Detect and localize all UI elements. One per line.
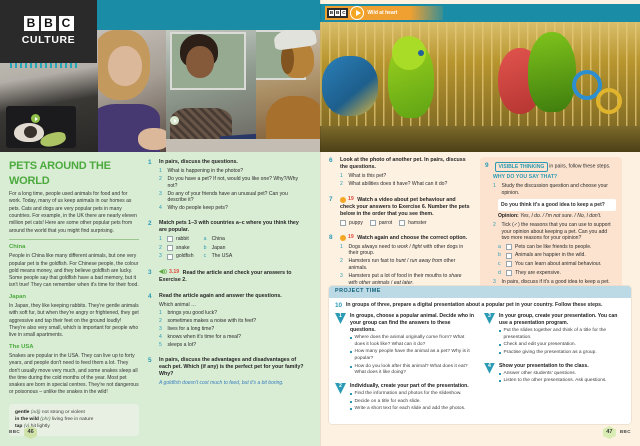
exercise-4-item-3: lives for a long time? [168, 326, 215, 333]
list-item: 2sometimes makes a noise with its feet? [159, 318, 308, 325]
option-checkbox-puppy[interactable] [340, 220, 346, 226]
match-row: 2snake [159, 245, 194, 252]
video-number-8: 19 [348, 234, 354, 241]
step-badge-2: 2 [335, 383, 346, 394]
exercise-6-items: 1What is this pet? 2What abilities does … [340, 173, 471, 188]
audio-play-icon-2[interactable] [170, 116, 179, 125]
exercise-10-number: 10 [335, 302, 342, 310]
list-item: 3Do any of your friends have an unusual … [159, 191, 308, 204]
list-item: 4Why do people keep pets? [159, 205, 308, 212]
match-countries: aChina bJapan cThe USA [204, 236, 233, 262]
step-title-2: Individually, create your part of the pr… [350, 383, 469, 390]
project-column-1: 1 In groups, choose a popular animal. De… [335, 313, 476, 419]
list-item: Decide on a title for each slide. [350, 399, 469, 406]
exercise-4-items: 1brings you good luck? 2sometimes makes … [159, 310, 308, 348]
bbc-letter-b1: B [24, 16, 39, 31]
match-pet-2: snake [176, 245, 190, 252]
option-label-puppy: puppy [349, 220, 363, 227]
exercise-9-number: 9 [485, 162, 492, 170]
match-row: 3goldfish [159, 253, 194, 260]
left-page: Perfect pets B B C CULTURE [0, 0, 320, 446]
reason-label-d: They are expensive. [515, 270, 561, 277]
list-item: 2 Hamsters run fast to hunt / run away f… [340, 258, 471, 271]
project-step-3: 3 In your group, create your presentatio… [484, 313, 625, 358]
photo-girl-feeding [98, 30, 166, 152]
step-bullets-1: Where does the animal originally come fr… [350, 335, 476, 377]
bbc-logo-icon-small: B B C [327, 8, 348, 18]
reason-label-a: Pets can be like friends to people. [515, 244, 591, 251]
list-item: Where does the animal originally come fr… [350, 335, 476, 349]
match-checkbox-2[interactable] [167, 245, 173, 251]
glossary-word-1: gentle [15, 410, 29, 415]
exercise-8-lead: Watch again and choose the correct optio… [357, 235, 467, 241]
left-footer: BBC 46 [9, 426, 37, 439]
exercise-1-item-1: What is happening in the photos? [168, 168, 244, 175]
exercise-7-number: 7 [329, 196, 336, 227]
list-item: 1What is this pet? [340, 173, 471, 180]
right-page: B B C Wild at heart 6 Look at the photo … [320, 0, 640, 446]
project-lead-row: 10 In groups of three, prepare a digital… [329, 298, 631, 313]
glossary-def-1: not strong or violent [42, 410, 85, 415]
exercise-4-item-1: brings you good luck? [168, 310, 218, 317]
vt-reason-row: aPets can be like friends to people. [498, 244, 616, 251]
audio-track-number: 3.19 [169, 269, 179, 276]
visible-thinking-subtitle: WHY DO YOU SAY THAT? [493, 174, 616, 181]
video-play-button-7[interactable]: 19 [340, 196, 354, 203]
bbc-logo-icon: B B C [24, 16, 74, 31]
match-pet-1: rabbit [176, 236, 189, 243]
exercise-6-item-2: What abilities does it have? What can it… [349, 181, 448, 188]
list-item: 3 Hamsters put a lot of food in their mo… [340, 273, 471, 286]
left-columns: PETS AROUND THE WORLD For a long time, p… [0, 152, 320, 436]
option-checkbox-hamster[interactable] [399, 220, 405, 226]
vt-reasons: aPets can be like friends to people. bAn… [498, 244, 616, 277]
vt-reason-row: bAnimals are happier in the wild. [498, 252, 616, 259]
visible-thinking-steps: 1Study the discussion question and choos… [493, 183, 616, 196]
exercise-5-lead: In pairs, discuss the advantages and dis… [159, 357, 308, 378]
glossary-entry-1: gentle (adj) not strong or violent [15, 409, 133, 416]
list-item: 2Do you have a pet? If not, would you li… [159, 176, 308, 189]
list-item: How do you look after this animal? What … [350, 364, 476, 378]
reason-checkbox-a[interactable] [506, 244, 512, 250]
page-number-left: 46 [24, 426, 37, 439]
vt-step-1: Study the discussion question and choose… [502, 183, 617, 196]
match-pets: 1rabbit 2snake 3goldfish [159, 236, 194, 262]
list-item: Listen to the other presentations. Ask q… [499, 378, 607, 385]
exercise-1-number: 1 [148, 159, 155, 213]
glossary-pos-1: (adj) [31, 410, 41, 415]
photo-boy-at-table [166, 30, 256, 152]
match-country-3: The USA [212, 253, 233, 260]
list-item: 1What is happening in the photos? [159, 168, 308, 175]
list-item: How many people have the animal as a pet… [350, 349, 476, 363]
match-row: 1rabbit [159, 236, 194, 243]
vt-step-2: Tick (✓) the reasons that you can use to… [502, 222, 617, 242]
exercise-7: 7 19 Watch a video about pet behaviour a… [329, 196, 471, 227]
exercise-6: 6 Look at the photo of another pet. In p… [329, 157, 471, 189]
vt-opinion-values: Yes, I do. / I'm not sure. / No, I don't… [520, 213, 601, 219]
step-bullets-4: Answer other students' questions. Listen… [499, 371, 607, 385]
exercise-6-number: 6 [329, 157, 336, 189]
reason-label-c: You can learn about animal behaviour. [515, 261, 601, 268]
footer-bbc-right: BBC [620, 429, 631, 435]
play-icon-small [340, 235, 346, 241]
article-intro: For a long time, people used animals for… [9, 191, 139, 235]
left-hero: Perfect pets B B C CULTURE [0, 0, 320, 152]
section-text-japan: In Japan, they like keeping rabbits. The… [9, 303, 139, 340]
project-column-2: 3 In your group, create your presentatio… [484, 313, 625, 419]
list-item: Check and edit your presentation. [499, 342, 625, 349]
article-title: PETS AROUND THE WORLD [9, 159, 139, 188]
match-country-2: Japan [212, 245, 226, 252]
reason-checkbox-b[interactable] [506, 253, 512, 259]
hero-title-bar [97, 0, 320, 30]
list-item: Put the slides together and think of a t… [499, 328, 625, 342]
match-country-1: China [212, 236, 225, 243]
vt-discussion-question: Do you think it's a good idea to keep a … [498, 199, 616, 211]
visible-thinking-step2: 2Tick (✓) the reasons that you can use t… [493, 222, 616, 242]
exercise-9-lead: in pairs, follow these steps. [549, 164, 610, 170]
speaker-icon: ◀)) [159, 269, 167, 276]
section-heading-usa: The USA [9, 344, 139, 352]
exercise-4-item-5: sleeps a lot? [168, 342, 197, 349]
step-badge-1: 1 [335, 313, 346, 324]
exercise-6-item-1: What is this pet? [349, 173, 387, 180]
right-hero: B B C Wild at heart [320, 0, 640, 152]
video-title: Wild at heart [367, 10, 397, 17]
audio-track-button[interactable]: ◀)) 3.19 [159, 269, 179, 276]
play-icon-small [340, 197, 346, 203]
section-text-usa: Snakes are popular in the USA. They can … [9, 353, 139, 397]
bbc-letter-b2: B [41, 16, 56, 31]
exercise-7-lead: Watch a video about pet behaviour and ch… [340, 197, 470, 217]
list-item: 1brings you good luck? [159, 310, 308, 317]
reason-label-b: Animals are happier in the wild. [515, 252, 586, 259]
vt-opinion-row: Opinion: Yes, I do. / I'm not sure. / No… [498, 213, 616, 220]
exercise-3-number: 3 [148, 269, 155, 286]
option-label-hamster: hamster [408, 220, 426, 227]
reason-checkbox-c[interactable] [506, 261, 512, 267]
exercise-2-number: 2 [148, 220, 155, 262]
list-item: 4knows when it's time for a meal? [159, 334, 308, 341]
page-number-right: 47 [603, 426, 616, 439]
project-time-panel: PROJECT TIME 10 In groups of three, prep… [329, 286, 631, 424]
step-title-4: Show your presentation to the class. [499, 363, 607, 370]
exercise-4-lead: Read the article again and answer the qu… [159, 293, 308, 300]
project-step-2: 2 Individually, create your part of the … [335, 383, 476, 414]
exercise-1-items: 1What is happening in the photos? 2Do yo… [159, 168, 308, 212]
match-row: bJapan [204, 245, 233, 252]
list-item: Answer other students' questions. [499, 371, 607, 378]
step-bullets-3: Put the slides together and think of a t… [499, 328, 625, 357]
list-item: 2Tick (✓) the reasons that you can use t… [493, 222, 616, 242]
exercise-1-lead: In pairs, discuss the questions. [159, 159, 308, 166]
video-number-7: 19 [348, 196, 354, 203]
section-heading-china: China [9, 244, 139, 252]
vt-opinion-label: Opinion: [498, 213, 519, 219]
exercise-3: 3 ◀)) 3.19 Read the article and check yo… [148, 269, 308, 286]
option-label-parrot: parrot [379, 220, 392, 227]
video-banner[interactable]: B B C Wild at heart [325, 6, 443, 20]
vt-reason-row: dThey are expensive. [498, 270, 616, 277]
match-row: cThe USA [204, 253, 233, 260]
match-pet-3: goldfish [176, 253, 194, 260]
exercise-4-stem: Which animal … [159, 302, 308, 309]
exercise-1-item-2: Do you have a pet? If not, would you lik… [168, 176, 309, 189]
textbook-spread: Perfect pets B B C CULTURE [0, 0, 640, 446]
exercise-7-options: puppy parrot hamster [340, 220, 471, 227]
audio-play-icon-1[interactable] [31, 114, 40, 123]
divider [9, 239, 139, 240]
glossary-word-2: in the wild [15, 417, 39, 422]
list-item: 3lives for a long time? [159, 326, 308, 333]
exercise-4-item-2: sometimes makes a noise with its feet? [168, 318, 257, 325]
exercise-4-number: 4 [148, 293, 155, 350]
reason-checkbox-d[interactable] [506, 270, 512, 276]
exercise-10-lead: In groups of three, prepare a digital pr… [346, 302, 602, 310]
step-badge-4: 4 [484, 363, 495, 374]
footer-bbc-left: BBC [9, 429, 20, 435]
page-spine [320, 0, 321, 446]
visible-thinking-badge: VISIBLE THINKING [495, 162, 548, 172]
match-row: aChina [204, 236, 233, 243]
bbc-culture-label: CULTURE [22, 34, 76, 48]
project-steps-grid: 1 In groups, choose a popular animal. De… [329, 313, 631, 424]
photo-dog-with-towel [256, 30, 320, 152]
play-icon[interactable] [350, 6, 364, 20]
step-bullets-2: Find the information and photos for the … [350, 391, 469, 413]
list-item: Write a short text for each slide and ad… [350, 406, 469, 413]
exercise-1: 1 In pairs, discuss the questions. 1What… [148, 159, 308, 213]
exercise-5: 5 In pairs, discuss the advantages and d… [148, 357, 308, 387]
section-heading-japan: Japan [9, 294, 139, 302]
article-column: PETS AROUND THE WORLD For a long time, p… [9, 159, 139, 436]
exercise-5-example: A goldfish doesn't cost much to feed, bu… [159, 380, 308, 387]
list-item: 2What abilities does it have? What can i… [340, 181, 471, 188]
project-step-1: 1 In groups, choose a popular animal. De… [335, 313, 476, 378]
glossary-def-2: living free in nature [52, 417, 93, 422]
exercise-6-lead: Look at the photo of another pet. In pai… [340, 157, 471, 171]
list-item: 5sleeps a lot? [159, 342, 308, 349]
exercise-1-item-3: Do any of your friends have an unusual p… [168, 191, 309, 204]
exercise-5-number: 5 [148, 357, 155, 387]
step-title-3: In your group, create your presentation.… [499, 313, 625, 327]
video-play-button-8[interactable]: 19 [340, 234, 354, 241]
match-checkbox-3[interactable] [167, 254, 173, 260]
exercise-1-item-4: Why do people keep pets? [168, 205, 228, 212]
list-item: Practise giving the presentation as a gr… [499, 350, 625, 357]
exercise-4: 4 Read the article again and answer the … [148, 293, 308, 350]
glossary-entry-2: in the wild (phr) living free in nature [15, 416, 133, 423]
option-checkbox-parrot[interactable] [370, 220, 376, 226]
list-item: 1Study the discussion question and choos… [493, 183, 616, 196]
exercise-2-lead: Match pets 1–3 with countries a–c where … [159, 220, 308, 234]
glossary-pos-2: (phr) [40, 417, 50, 422]
photo-parrots-in-cage [320, 22, 640, 152]
exercise-4-item-4: knows when it's time for a meal? [168, 334, 241, 341]
project-step-4: 4 Show your presentation to the class. A… [484, 363, 625, 386]
list-item: 1 Dogs always need to work / fight with … [340, 244, 471, 257]
bbc-letter-c: C [59, 16, 74, 31]
list-item: Find the information and photos for the … [350, 391, 469, 398]
project-time-header: PROJECT TIME [329, 286, 631, 298]
step-badge-3: 3 [484, 313, 495, 324]
match-grid: 1rabbit 2snake 3goldfish aChina bJapan c… [159, 236, 308, 262]
match-checkbox-1[interactable] [167, 236, 173, 242]
right-footer: 47 BBC [603, 426, 631, 439]
exercise-column-left: 1 In pairs, discuss the questions. 1What… [148, 159, 308, 436]
step-title-1: In groups, choose a popular animal. Deci… [350, 313, 476, 333]
exercise-2: 2 Match pets 1–3 with countries a–c wher… [148, 220, 308, 262]
bbc-culture-logo: B B C CULTURE [0, 0, 97, 63]
vt-reason-row: cYou can learn about animal behaviour. [498, 261, 616, 268]
section-text-china: People in China like many different anim… [9, 253, 139, 290]
